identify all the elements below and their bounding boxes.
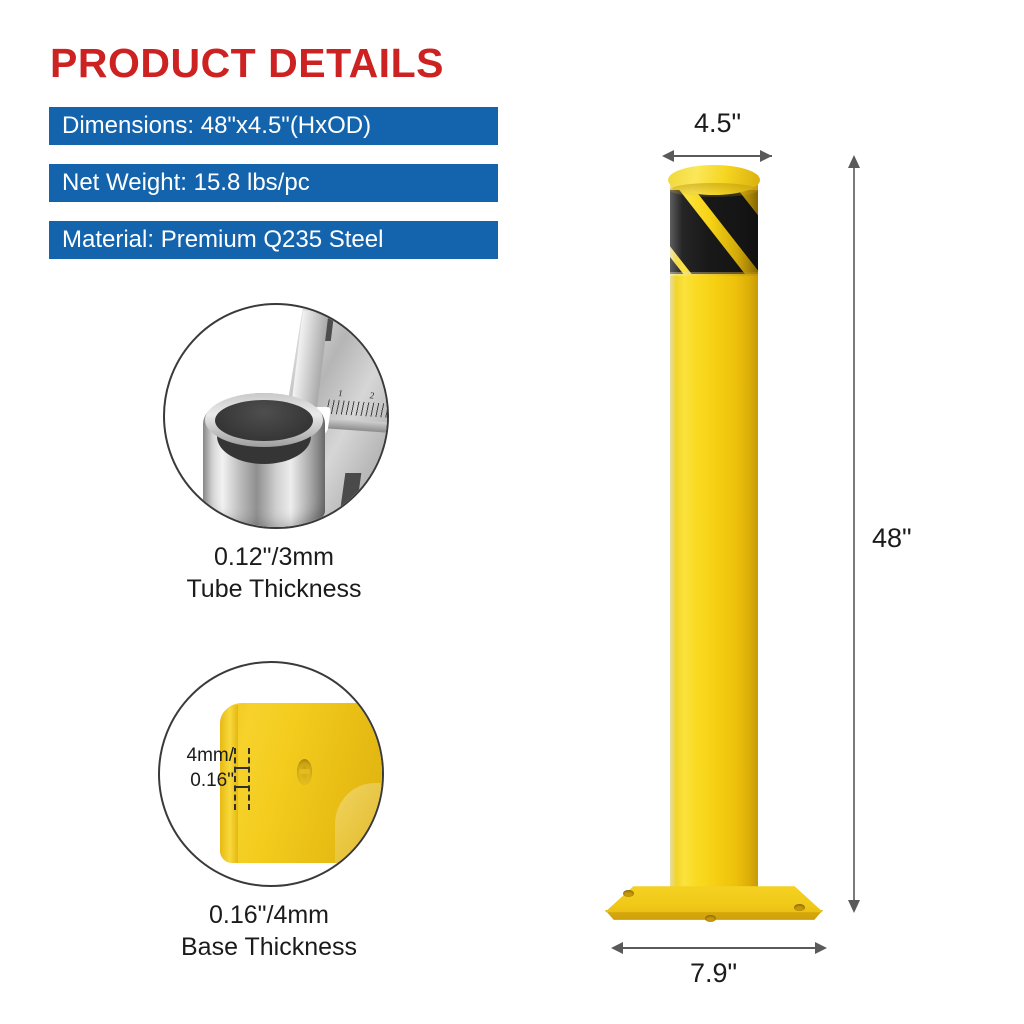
product-detail-image: PRODUCT DETAILS Dimensions: 48"x4.5"(HxO… bbox=[0, 0, 1024, 1024]
hazard-stripe-band bbox=[670, 190, 758, 274]
bollard-cap-shadow bbox=[670, 183, 758, 197]
dimension-arrow-base-right-icon bbox=[815, 942, 827, 954]
dimension-line-height bbox=[853, 162, 855, 910]
base-plate-hole-front bbox=[705, 915, 716, 922]
dimension-arrow-height-top-icon bbox=[848, 155, 860, 168]
dimension-label-top-width: 4.5" bbox=[694, 108, 741, 139]
base-plate-hole-right bbox=[794, 904, 805, 911]
base-plate-hole-left bbox=[623, 890, 634, 897]
safety-bollard-illustration: 4.5" 48" 7.9" bbox=[0, 0, 1024, 1024]
dimension-line-base-width bbox=[620, 947, 824, 949]
dimension-arrow-top-right-icon bbox=[760, 150, 772, 162]
bollard-base-plate bbox=[605, 884, 823, 928]
dimension-arrow-height-bottom-icon bbox=[848, 900, 860, 913]
bollard-tube-body bbox=[670, 175, 758, 899]
bollard-band-seam bbox=[670, 272, 758, 276]
dimension-arrow-base-left-icon bbox=[611, 942, 623, 954]
dimension-line-top-width bbox=[670, 155, 772, 157]
dimension-label-height: 48" bbox=[872, 523, 912, 554]
dimension-arrow-top-left-icon bbox=[662, 150, 674, 162]
dimension-label-base-width: 7.9" bbox=[690, 958, 737, 989]
